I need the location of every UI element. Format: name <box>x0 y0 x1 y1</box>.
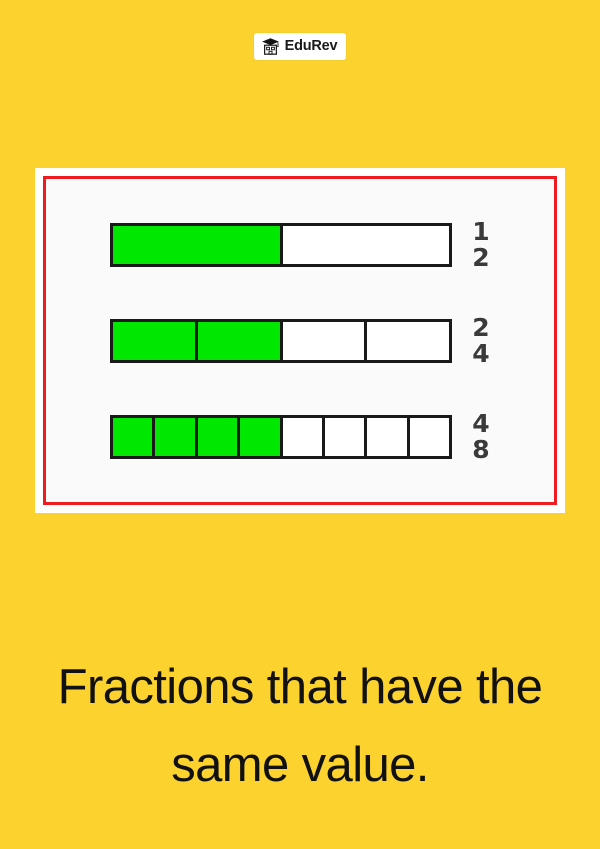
bar-segment-empty <box>325 418 367 456</box>
illustration-card: 1 2 2 4 <box>35 168 565 513</box>
fraction-denominator: 4 <box>472 341 489 367</box>
logo-box: EduRev <box>254 33 347 60</box>
bar-segment-filled <box>113 418 155 456</box>
fraction-label: 4 8 <box>468 411 494 462</box>
brand-logo: EduRev <box>0 33 600 60</box>
fraction-bars-group: 1 2 2 4 <box>46 179 554 502</box>
bar-segment-empty <box>367 418 409 456</box>
fraction-row-2-4: 2 4 <box>110 315 532 366</box>
fraction-denominator: 8 <box>472 437 489 463</box>
bar-segment-empty <box>410 418 449 456</box>
fraction-numerator: 1 <box>472 219 489 245</box>
fraction-numerator: 4 <box>472 411 489 437</box>
fraction-bar <box>110 319 452 363</box>
bar-segment-filled <box>240 418 282 456</box>
bar-segment-filled <box>113 322 198 360</box>
bar-segment-empty <box>283 322 368 360</box>
bar-segment-filled <box>198 418 240 456</box>
fraction-label: 1 2 <box>468 219 494 270</box>
caption-text: Fractions that have the same value. <box>0 648 600 805</box>
bar-segment-filled <box>198 322 283 360</box>
fraction-row-4-8: 4 8 <box>110 411 532 462</box>
fraction-bar <box>110 223 452 267</box>
bar-segment-empty <box>367 322 449 360</box>
fraction-row-1-2: 1 2 <box>110 219 532 270</box>
bar-segment-filled <box>113 226 283 264</box>
bar-segment-filled <box>155 418 197 456</box>
fraction-denominator: 2 <box>472 245 489 271</box>
fraction-label: 2 4 <box>468 315 494 366</box>
bar-segment-empty <box>283 226 450 264</box>
card-red-frame: 1 2 2 4 <box>43 176 557 505</box>
logo-text: EduRev <box>285 39 338 54</box>
bar-segment-empty <box>283 418 325 456</box>
fraction-bar <box>110 415 452 459</box>
graduation-cap-icon <box>261 37 280 56</box>
fraction-numerator: 2 <box>472 315 489 341</box>
